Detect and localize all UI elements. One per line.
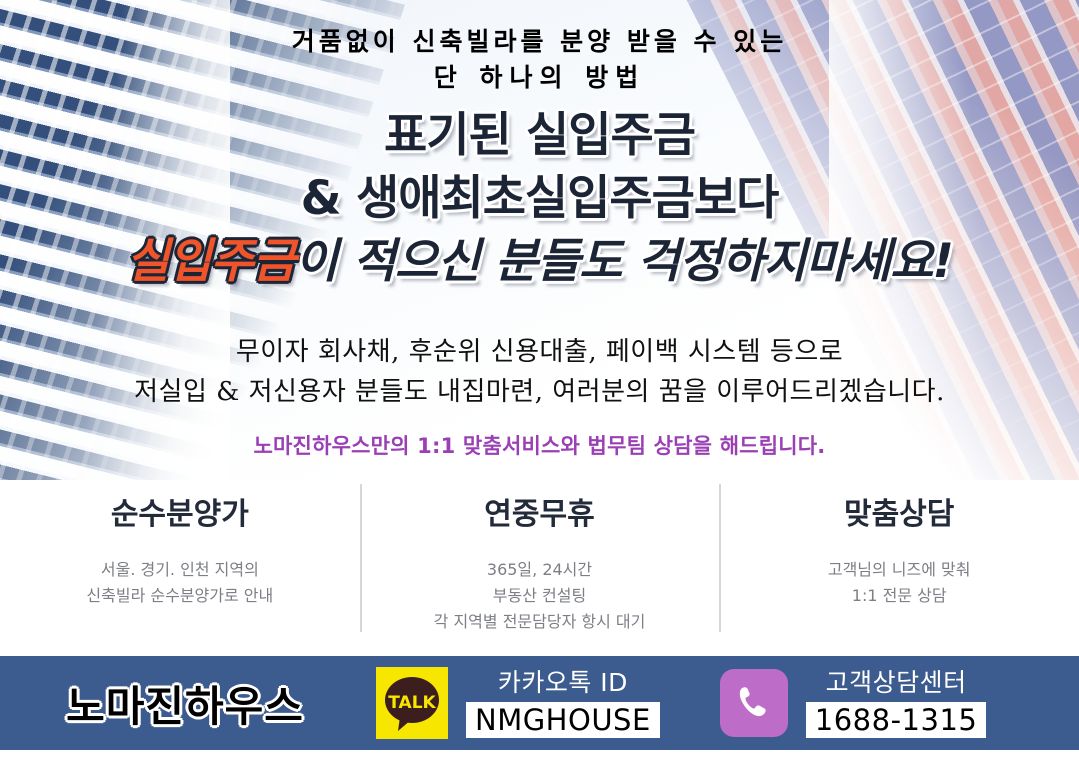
customer-center-label: 고객상담센터 [806, 668, 987, 698]
kakaotalk-icon[interactable]: TALK [376, 667, 448, 739]
hero-content: 거품없이 신축빌라를 분양 받을 수 있는 단 하나의 방법 표기된 실입주금 … [0, 0, 1079, 480]
feature-desc-line: 고객님의 니즈에 맞춰 [719, 557, 1079, 583]
phone-contact-block[interactable]: 고객상담센터 1688-1315 [720, 668, 987, 738]
feature-title: 연중무휴 [360, 495, 720, 535]
kicker-line-2: 단 하나의 방법 [0, 60, 1079, 96]
brand-logo-text: 노마진하우스 [0, 673, 370, 734]
feature-desc-line: 365일, 24시간 [360, 557, 720, 583]
feature-description: 365일, 24시간 부동산 컨설팅 각 지역별 전문담당자 항시 대기 [360, 557, 720, 635]
kakao-id-label: 카카오톡 ID [466, 668, 660, 698]
features-section: 순수분양가 서울. 경기. 인천 지역의 신축빌라 순수분양가로 안내 연중무휴… [0, 480, 1079, 656]
feature-desc-line: 1:1 전문 상담 [719, 583, 1079, 609]
kakao-id-value[interactable]: NMGHOUSE [466, 702, 660, 738]
customer-center-number[interactable]: 1688-1315 [806, 702, 987, 738]
feature-desc-line: 부동산 컨설팅 [360, 583, 720, 609]
phone-icon[interactable] [720, 669, 788, 737]
kicker-text: 거품없이 신축빌라를 분양 받을 수 있는 단 하나의 방법 [0, 24, 1079, 96]
contact-footer-bar: 노마진하우스 TALK 카카오톡 ID NMGHOUSE 고객 [0, 656, 1079, 750]
feature-desc-line: 서울. 경기. 인천 지역의 [0, 557, 360, 583]
svg-text:TALK: TALK [388, 693, 436, 713]
body-copy: 무이자 회사채, 후순위 신용대출, 페이백 시스템 등으로 저실입 & 저신용… [0, 332, 1079, 412]
headline-highlight-word: 실입주금 [126, 234, 295, 289]
headline-line-3: 실입주금이 적으신 분들도 걱정하지마세요! [0, 230, 1079, 293]
body-line-1: 무이자 회사채, 후순위 신용대출, 페이백 시스템 등으로 [0, 332, 1079, 372]
kicker-line-1: 거품없이 신축빌라를 분양 받을 수 있는 [0, 24, 1079, 60]
headline-line-1: 표기된 실입주금 [0, 104, 1079, 167]
phone-contact-text: 고객상담센터 1688-1315 [806, 668, 987, 738]
accent-tagline: 노마진하우스만의 1:1 맞춤서비스와 법무팀 상담을 해드립니다. [0, 430, 1079, 460]
headline-line-3-rest: 이 적으신 분들도 걱정하지마세요! [295, 234, 953, 289]
feature-desc-line: 신축빌라 순수분양가로 안내 [0, 583, 360, 609]
feature-description: 고객님의 니즈에 맞춰 1:1 전문 상담 [719, 557, 1079, 609]
feature-column-pure-price: 순수분양가 서울. 경기. 인천 지역의 신축빌라 순수분양가로 안내 [0, 480, 360, 656]
hero-section: 거품없이 신축빌라를 분양 받을 수 있는 단 하나의 방법 표기된 실입주금 … [0, 0, 1079, 480]
feature-column-custom-consult: 맞춤상담 고객님의 니즈에 맞춰 1:1 전문 상담 [719, 480, 1079, 656]
headline-line-2: & 생애최초실입주금보다 [0, 167, 1079, 230]
feature-description: 서울. 경기. 인천 지역의 신축빌라 순수분양가로 안내 [0, 557, 360, 609]
kakao-contact-block[interactable]: TALK 카카오톡 ID NMGHOUSE [376, 667, 660, 739]
feature-desc-line: 각 지역별 전문담당자 항시 대기 [360, 609, 720, 635]
feature-column-open-all-year: 연중무휴 365일, 24시간 부동산 컨설팅 각 지역별 전문담당자 항시 대… [360, 480, 720, 656]
main-headline: 표기된 실입주금 & 생애최초실입주금보다 실입주금이 적으신 분들도 걱정하지… [0, 104, 1079, 293]
feature-title: 맞춤상담 [719, 495, 1079, 535]
body-line-2: 저실입 & 저신용자 분들도 내집마련, 여러분의 꿈을 이루어드리겠습니다. [0, 372, 1079, 412]
feature-title: 순수분양가 [0, 495, 360, 535]
kakao-contact-text: 카카오톡 ID NMGHOUSE [466, 668, 660, 738]
advertisement-page: 거품없이 신축빌라를 분양 받을 수 있는 단 하나의 방법 표기된 실입주금 … [0, 0, 1079, 759]
